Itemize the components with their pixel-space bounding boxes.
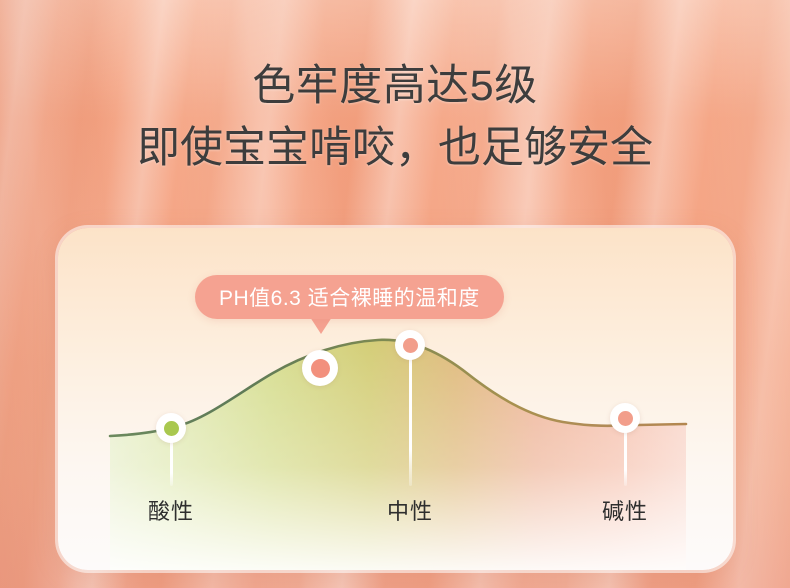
data-point-alkaline-fill — [618, 411, 633, 426]
promo-graphic: 色牢度高达5级 即使宝宝啃咬，也足够安全 — [0, 0, 790, 588]
ph-tooltip: PH值6.3 适合裸睡的温和度 — [195, 275, 504, 319]
data-point-neutral-fill — [403, 338, 418, 353]
data-point-ph-highlight[interactable] — [302, 350, 338, 386]
stem-acidic — [170, 440, 173, 486]
headline-line-1: 色牢度高达5级 — [0, 56, 790, 118]
data-point-alkaline[interactable] — [610, 403, 640, 433]
tooltip-pointer-icon — [310, 317, 332, 334]
headline: 色牢度高达5级 即使宝宝啃咬，也足够安全 — [0, 56, 790, 180]
ph-curve-area-fade — [110, 340, 686, 570]
axis-label-alkaline: 碱性 — [602, 494, 648, 526]
data-point-acidic[interactable] — [156, 413, 186, 443]
ph-tooltip-text: PH值6.3 适合裸睡的温和度 — [219, 282, 480, 312]
data-point-neutral[interactable] — [395, 330, 425, 360]
headline-line-2: 即使宝宝啃咬，也足够安全 — [0, 118, 790, 180]
axis-label-neutral: 中性 — [387, 494, 433, 526]
data-point-ph-highlight-fill — [311, 359, 330, 378]
stem-neutral — [409, 358, 412, 486]
stem-alkaline — [624, 430, 627, 486]
data-point-acidic-fill — [164, 421, 179, 436]
axis-label-acidic: 酸性 — [148, 494, 194, 526]
